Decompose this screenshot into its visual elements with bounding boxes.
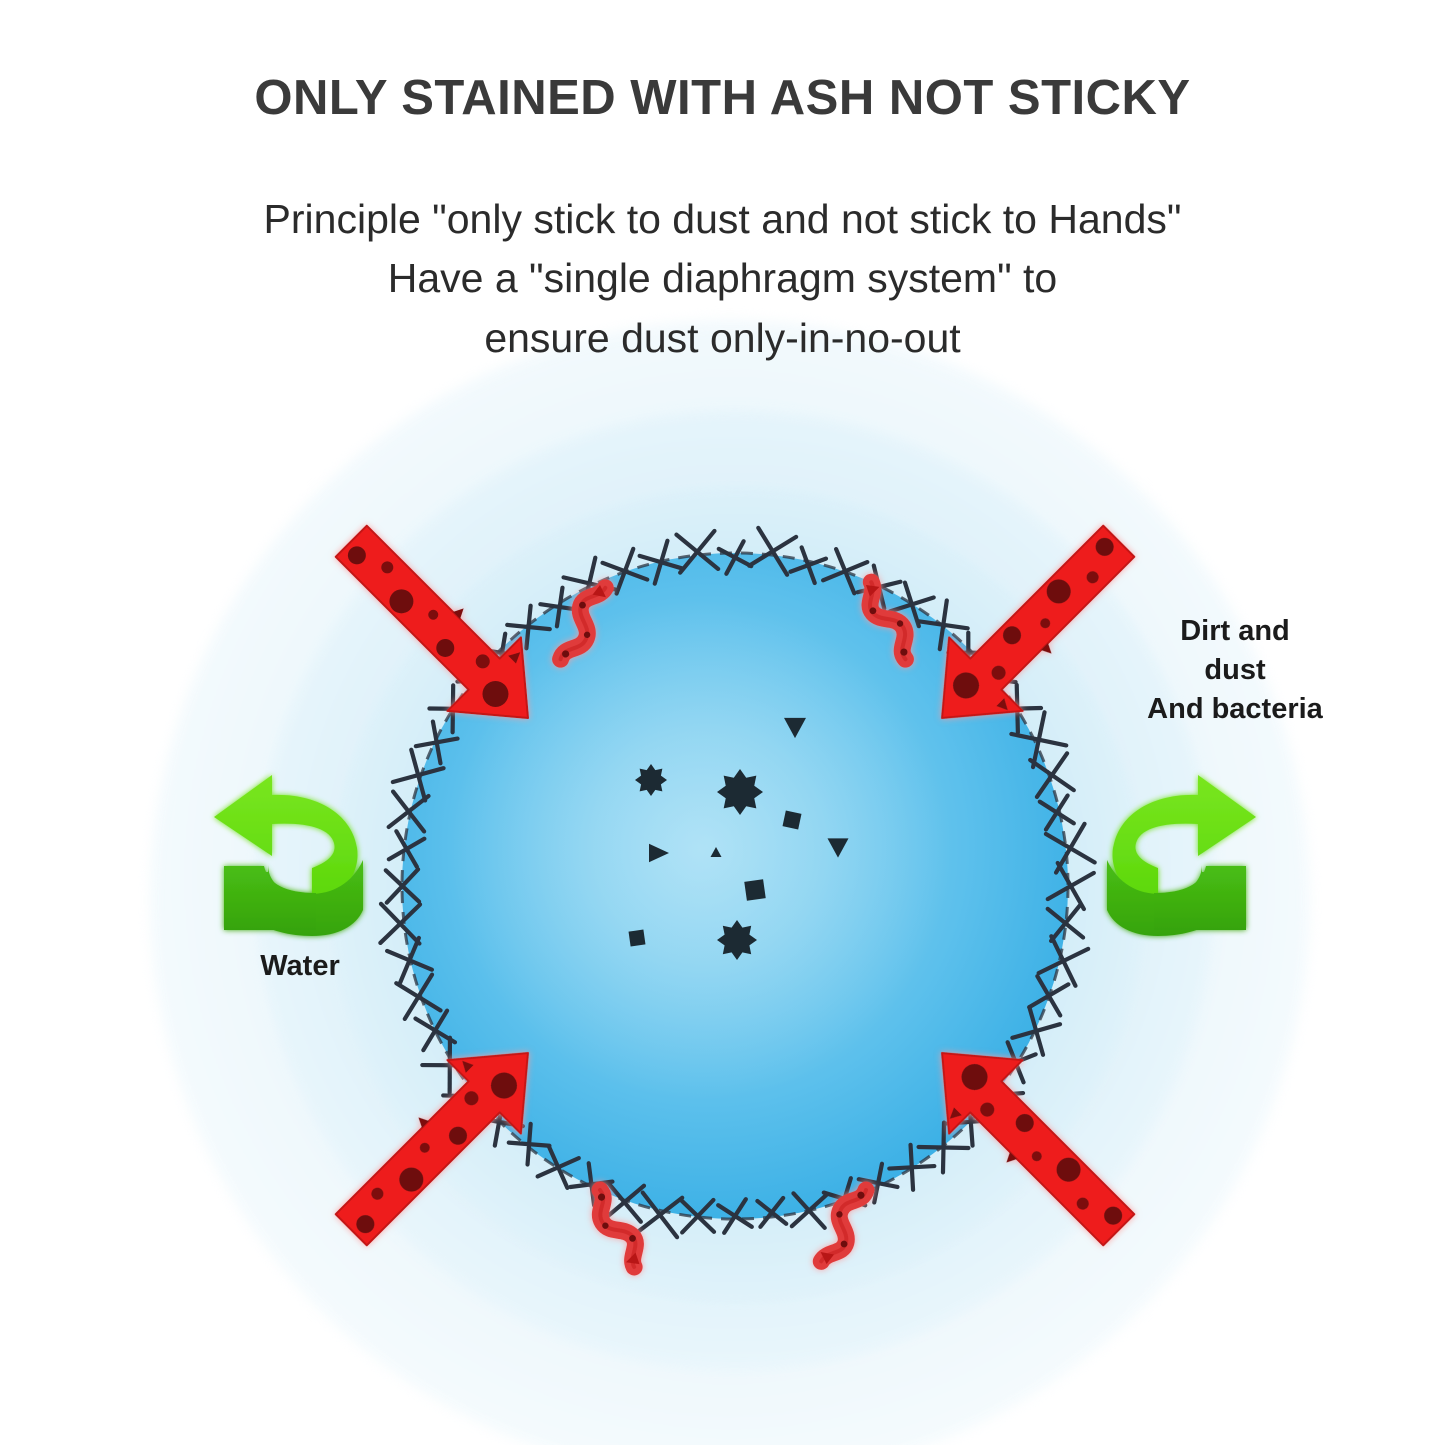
label-dirt-line-3: And bacteria — [1085, 690, 1385, 729]
label-water: Water — [190, 950, 410, 983]
water-arrow-left[interactable] — [214, 775, 363, 936]
particle-spiky-star — [717, 769, 763, 815]
label-dirt-line-1: Dirt and — [1085, 612, 1385, 651]
particle-square — [783, 811, 802, 830]
particle-square — [744, 879, 765, 900]
label-dirt-line-2: dust — [1085, 651, 1385, 690]
particle-spiky-star — [717, 920, 757, 960]
water-arrow-right[interactable] — [1107, 775, 1256, 936]
particle-spiky-star — [635, 764, 667, 796]
particle-square — [629, 930, 646, 947]
poster-canvas: ONLY STAINED WITH ASH NOT STICKY Princip… — [0, 0, 1445, 1445]
label-dirt-and-dust: Dirt and dust And bacteria — [1085, 612, 1385, 729]
